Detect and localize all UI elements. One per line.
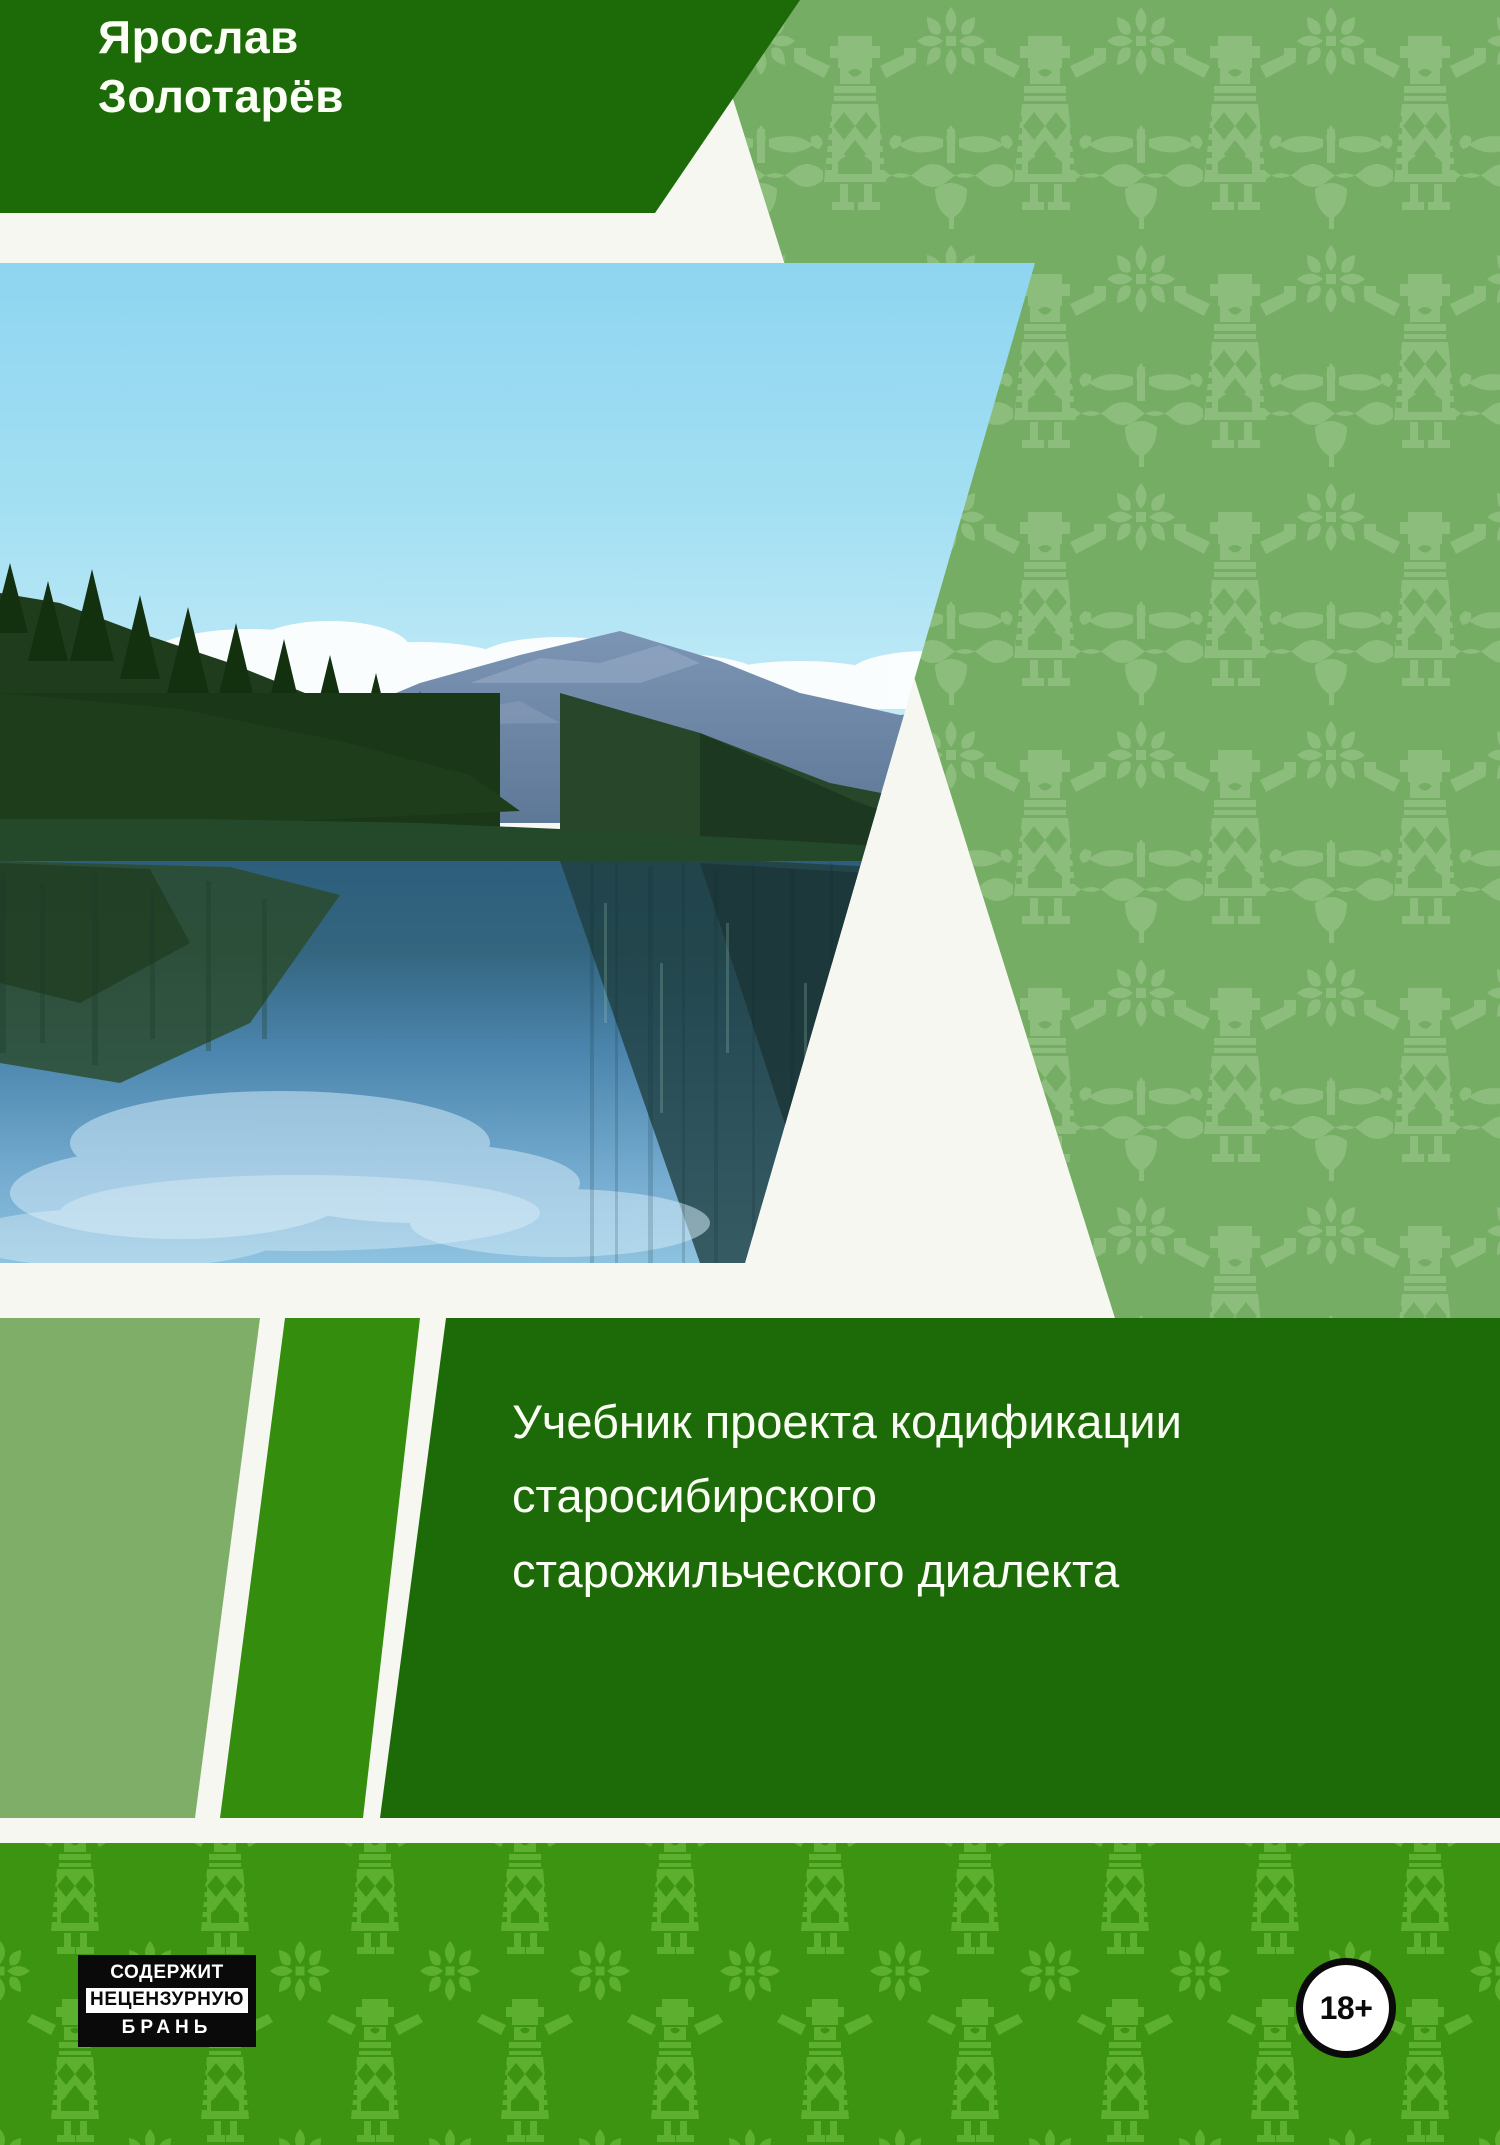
cover-photo — [0, 263, 1035, 1263]
author-name: Ярослав Золотарёв — [98, 8, 618, 126]
book-cover: Ярослав Золотарёв — [0, 0, 1500, 2145]
age-rating-label: 18+ — [1320, 1990, 1373, 2027]
mountain-lake-photo-icon — [0, 263, 1035, 1263]
age-rating-badge: 18+ — [1296, 1958, 1396, 2058]
profanity-warning-badge: СОДЕРЖИТ НЕЦЕНЗУРНУЮ БРАНЬ — [78, 1955, 256, 2047]
warning-line-2: НЕЦЕНЗУРНУЮ — [86, 1988, 248, 2012]
warning-line-1: СОДЕРЖИТ — [86, 1961, 248, 1985]
book-title: Учебник проекта кодификации старосибирск… — [512, 1385, 1432, 1608]
warning-line-3: БРАНЬ — [86, 2016, 248, 2040]
